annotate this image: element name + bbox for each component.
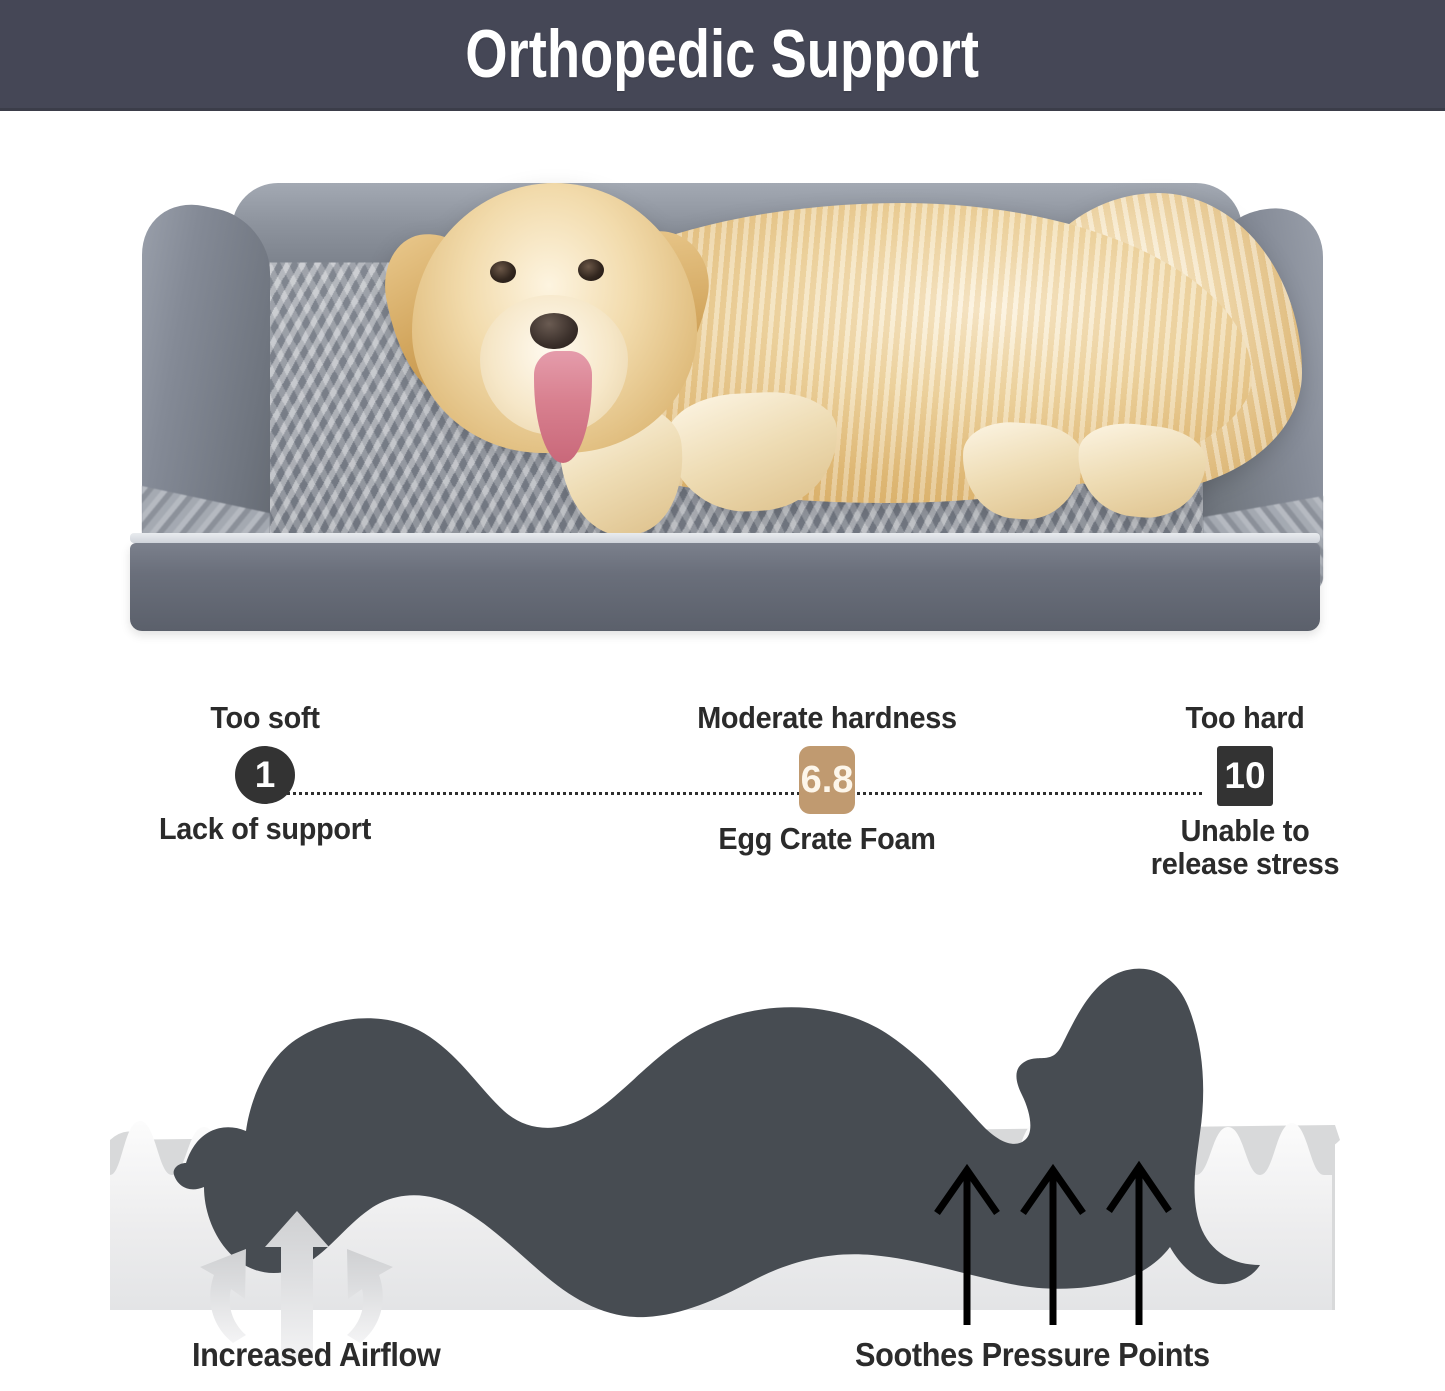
scale-bottom-label-line2: release stress — [1092, 847, 1399, 880]
dog-golden-retriever — [262, 175, 1282, 555]
scale-badge-6-8: 6.8 — [799, 746, 855, 814]
scale-top-label: Moderate hardness — [646, 700, 1009, 736]
product-photo — [112, 165, 1337, 665]
scale-badge-1: 1 — [235, 746, 295, 804]
scale-top-label: Too hard — [1092, 700, 1399, 736]
scale-point-moderate: Moderate hardness 6.8 Egg Crate Foam — [632, 700, 1022, 855]
scale-point-too-hard: Too hard 10 Unable to release stress — [1080, 700, 1410, 881]
scale-badge-10: 10 — [1217, 746, 1273, 806]
page-title: Orthopedic Support — [466, 20, 980, 88]
benefits-diagram — [0, 925, 1445, 1391]
scale-bottom-label: Unable to release stress — [1092, 814, 1399, 881]
dog-nose — [530, 313, 578, 349]
foam-diagram-svg — [0, 925, 1445, 1391]
label-soothes-pressure-points: Soothes Pressure Points — [855, 1336, 1210, 1374]
infographic-page: Orthopedic Support Too soft — [0, 0, 1445, 1391]
scale-top-label: Too soft — [102, 700, 428, 736]
scale-bottom-label-line1: Unable to — [1092, 814, 1399, 847]
dog-hind-paw — [959, 419, 1085, 523]
bed-foam-base — [130, 543, 1320, 631]
dog-eye-left — [490, 261, 516, 283]
scale-bottom-label: Egg Crate Foam — [646, 822, 1009, 855]
scale-bottom-label: Lack of support — [102, 812, 428, 845]
hardness-scale: Too soft 1 Lack of support Moderate hard… — [0, 700, 1445, 900]
label-increased-airflow: Increased Airflow — [192, 1336, 440, 1374]
dog-eye-right — [578, 259, 604, 281]
scale-point-too-soft: Too soft 1 Lack of support — [90, 700, 440, 845]
header-banner: Orthopedic Support — [0, 0, 1445, 111]
